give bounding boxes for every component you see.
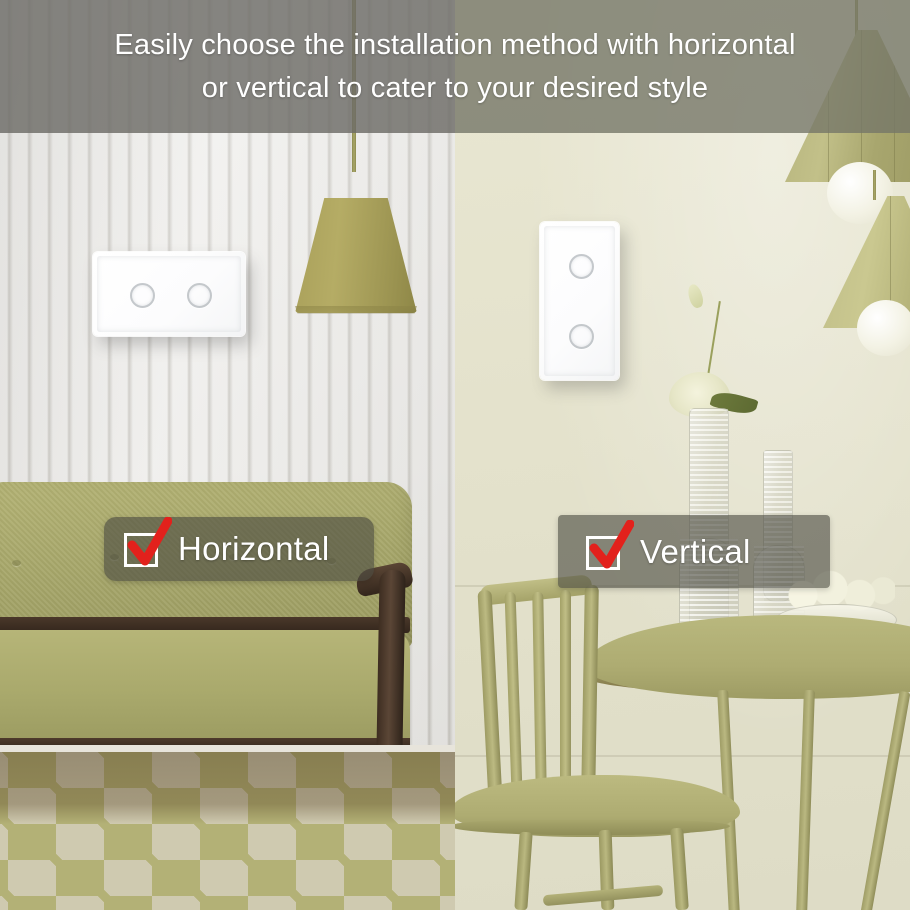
wall-switch-vertical[interactable] <box>540 222 619 380</box>
cone-lamp-cord-2 <box>873 170 876 200</box>
rug-shadow <box>0 752 455 824</box>
checkbox-vertical[interactable] <box>586 532 626 572</box>
badge-label-horizontal: Horizontal <box>178 530 330 568</box>
checkbox-square-icon <box>124 533 158 567</box>
switch-touch-button-2[interactable] <box>187 283 212 308</box>
checkbox-square-icon <box>586 536 620 570</box>
switch-glass-panel <box>544 226 615 376</box>
checkbox-horizontal[interactable] <box>124 529 164 569</box>
product-feature-poster: Easily choose the installation method wi… <box>0 0 910 910</box>
header-line-2: or vertical to cater to your desired sty… <box>202 71 708 105</box>
wall-switch-horizontal[interactable] <box>93 252 245 336</box>
chair-spindle <box>560 590 571 792</box>
switch-touch-button-1[interactable] <box>130 283 155 308</box>
switch-touch-button-1[interactable] <box>569 254 594 279</box>
lamp-globe-bulb-2 <box>857 300 910 356</box>
sofa-button <box>12 560 21 566</box>
badge-horizontal[interactable]: Horizontal <box>104 517 374 581</box>
badge-vertical[interactable]: Vertical <box>558 515 830 588</box>
sofa-seat-cushion <box>0 630 410 745</box>
header-text-block: Easily choose the installation method wi… <box>0 0 910 133</box>
scene-horizontal <box>0 0 455 910</box>
pendant-lamp-rim <box>295 306 417 314</box>
badge-label-vertical: Vertical <box>640 533 751 571</box>
switch-glass-panel <box>97 256 241 332</box>
header-line-1: Easily choose the installation method wi… <box>114 28 795 62</box>
switch-touch-button-2[interactable] <box>569 324 594 349</box>
scene-vertical <box>455 0 910 910</box>
sofa-armrest <box>376 570 405 755</box>
